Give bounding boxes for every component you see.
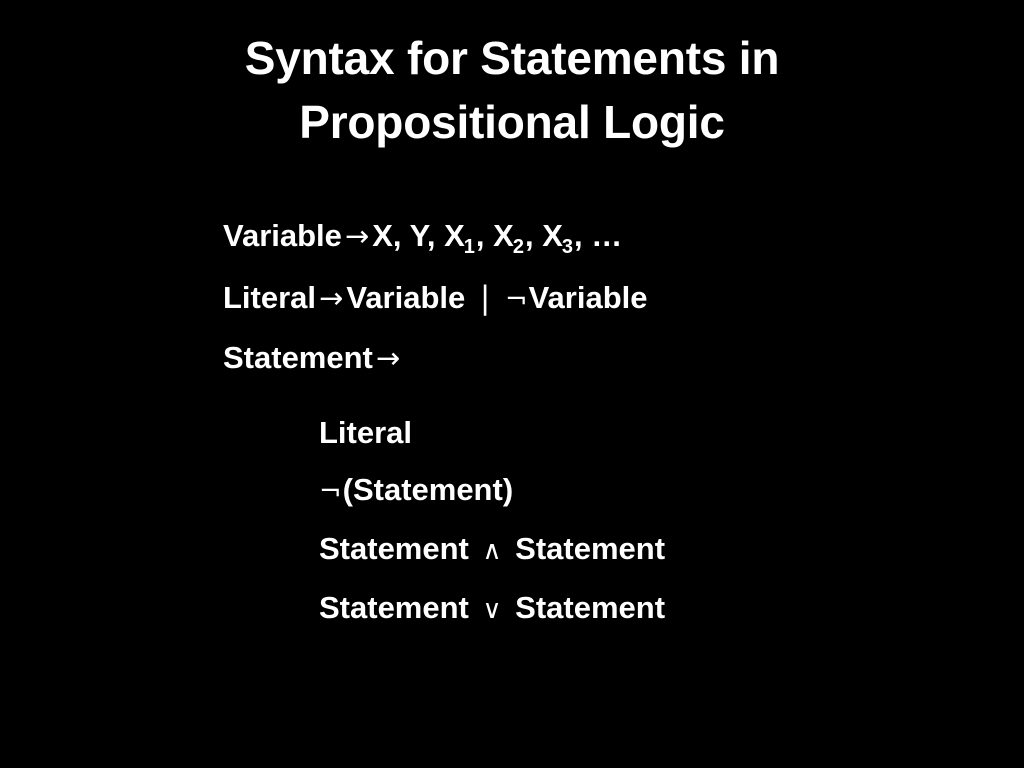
rule-variable-x2-sub: 2 <box>513 236 524 258</box>
rule-variable: Variable→X, Y, X1, X2, X3, … <box>223 218 1013 258</box>
rule-variable-lhs: Variable <box>223 218 342 253</box>
comma-4: , <box>525 218 534 253</box>
rule-statement-lhs: Statement <box>223 340 373 375</box>
comma-2: , <box>427 218 436 253</box>
arrow-icon: → <box>342 218 372 254</box>
logical-and-icon: ∧ <box>478 533 507 569</box>
conjunction-left: Statement <box>319 531 469 566</box>
conjunction-right: Statement <box>515 531 665 566</box>
title-line-2: Propositional Logic <box>0 90 1024 154</box>
page-title: Syntax for Statements in Propositional L… <box>0 26 1024 154</box>
rule-statement: Statement→ <box>223 340 1013 376</box>
disjunction-left: Statement <box>319 590 469 625</box>
rule-variable-x3-base: X <box>542 218 563 253</box>
rule-literal-lhs: Literal <box>223 280 316 315</box>
logical-or-icon: ∨ <box>478 592 507 628</box>
comma-3: , <box>476 218 485 253</box>
title-line-1: Syntax for Statements in <box>0 26 1024 90</box>
slide-canvas: Syntax for Statements in Propositional L… <box>0 0 1024 768</box>
rule-variable-x3-sub: 3 <box>562 236 573 258</box>
arrow-icon: → <box>373 340 403 376</box>
statement-alt-label: Literal <box>319 415 412 450</box>
rule-literal: Literal→Variable | ¬Variable <box>223 280 1013 318</box>
rule-variable-y: Y <box>410 218 427 253</box>
rule-literal-alt-1: Variable <box>346 280 465 315</box>
rule-variable-x1-sub: 1 <box>464 236 475 258</box>
disjunction-right: Statement <box>515 590 665 625</box>
negation-icon: ¬ <box>319 474 343 510</box>
rule-variable-x2-base: X <box>493 218 514 253</box>
rule-variable-x: X <box>372 218 393 253</box>
negation-icon: ¬ <box>505 282 529 318</box>
pipe-separator-icon: | <box>474 280 496 316</box>
ellipsis-icon: … <box>591 218 623 253</box>
comma-5: , <box>574 218 583 253</box>
statement-alternative-literal: Literal <box>319 415 1013 451</box>
statement-alternative-negation: ¬(Statement) <box>319 472 1013 510</box>
grammar-rules: Variable→X, Y, X1, X2, X3, … Literal→Var… <box>223 218 1013 628</box>
rule-variable-x1-base: X <box>444 218 465 253</box>
statement-alternative-disjunction: Statement ∨ Statement <box>319 590 1013 628</box>
arrow-icon: → <box>316 280 346 316</box>
statement-alternative-conjunction: Statement ∧ Statement <box>319 531 1013 569</box>
statement-alt-label: (Statement) <box>343 472 514 507</box>
rule-literal-alt-2: Variable <box>529 280 648 315</box>
comma-1: , <box>393 218 402 253</box>
